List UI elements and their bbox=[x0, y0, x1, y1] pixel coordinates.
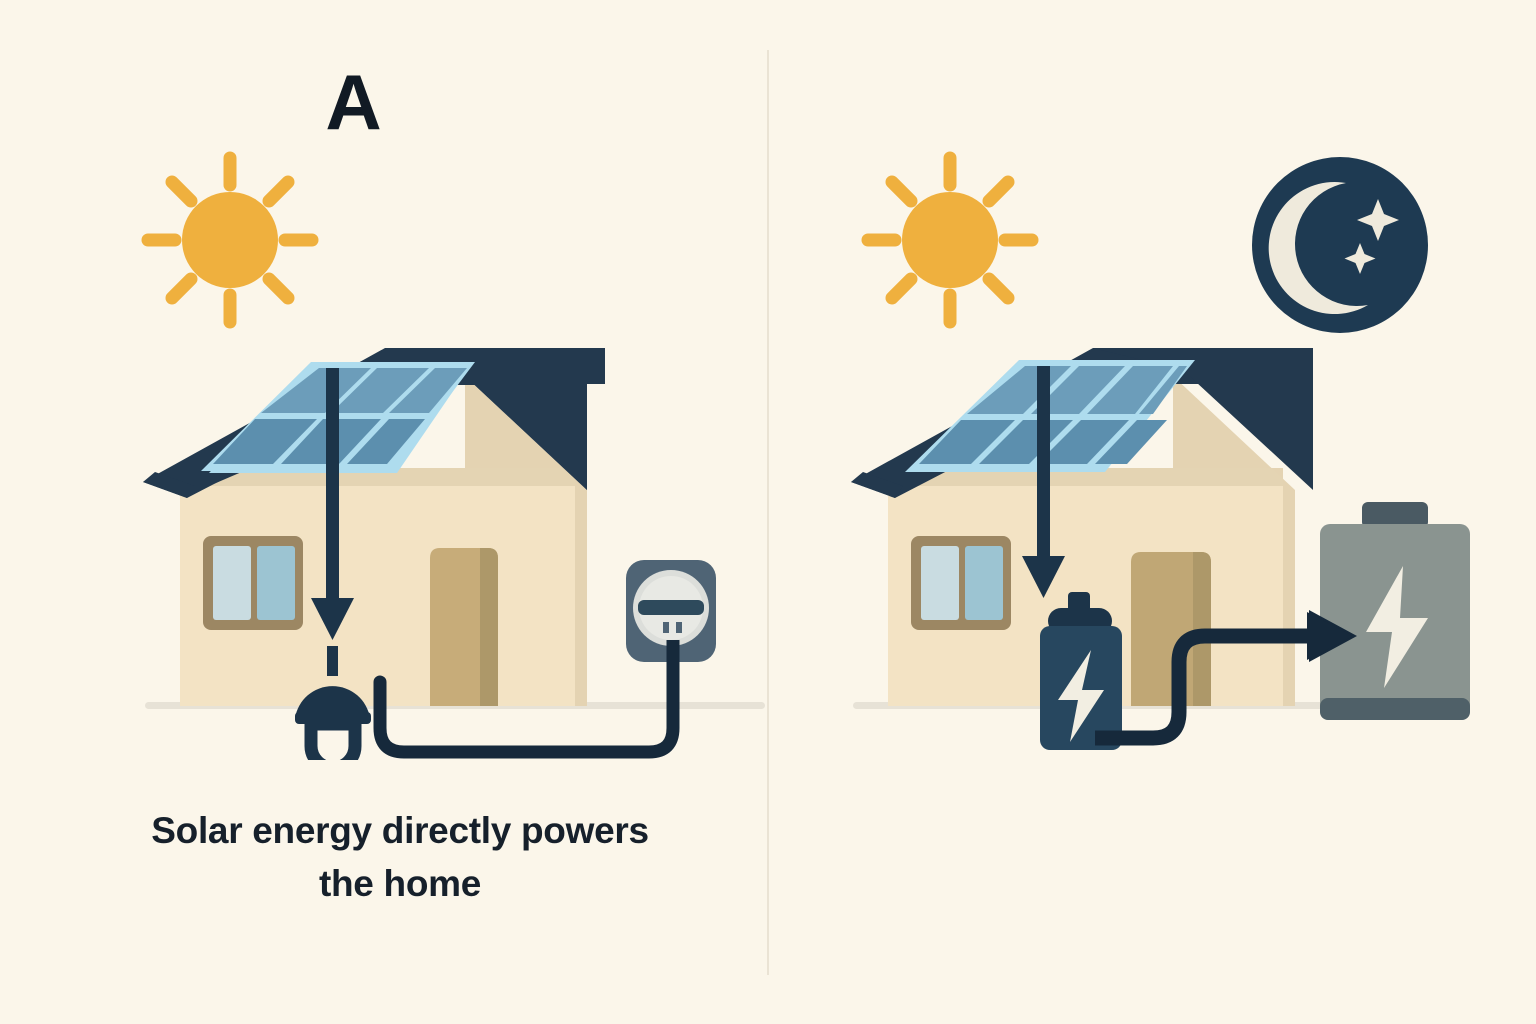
sun-icon bbox=[850, 140, 1050, 340]
cable-arrow-icon bbox=[1095, 590, 1435, 770]
window bbox=[911, 536, 1011, 630]
panel-a: A bbox=[0, 0, 768, 1024]
sun-icon bbox=[130, 140, 330, 340]
moon-icon bbox=[1250, 155, 1430, 335]
window bbox=[203, 536, 303, 630]
panel-a-letter: A bbox=[293, 63, 413, 141]
cable-icon bbox=[350, 640, 770, 820]
panel-a-caption: Solar energy directly powers the home bbox=[150, 805, 650, 910]
diagram-canvas: A bbox=[0, 0, 1536, 1024]
panel-b: B bbox=[768, 0, 1536, 1024]
